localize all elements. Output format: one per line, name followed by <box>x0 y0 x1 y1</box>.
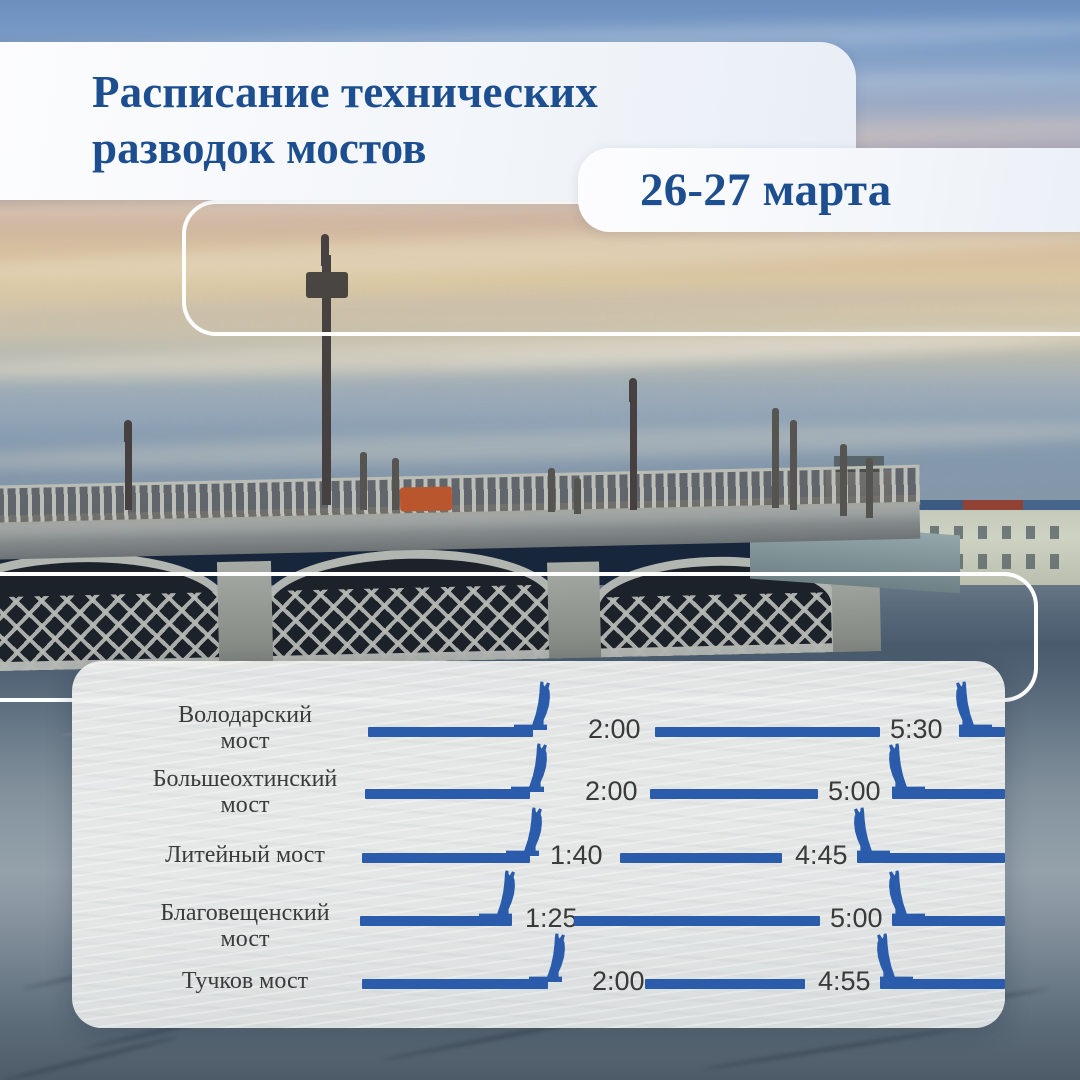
close-time: 5:30 <box>890 714 943 745</box>
close-bar-tail <box>892 916 1005 926</box>
poster: Расписание технических разводок мостов 2… <box>0 0 1080 1080</box>
open-time: 2:00 <box>592 966 645 997</box>
schedule-row: Тучков мост 2:004:55 <box>72 949 1005 1011</box>
close-time: 4:45 <box>795 840 848 871</box>
open-bar <box>365 789 530 799</box>
close-time: 5:00 <box>830 903 883 934</box>
schedule-row: Литейный мост 1:404:45 <box>72 823 1005 885</box>
date-range: 26-27 марта <box>640 163 891 217</box>
close-time: 4:55 <box>818 966 871 997</box>
close-bar-tail <box>880 979 1005 989</box>
close-bar-tail <box>959 727 1005 737</box>
close-bar <box>620 853 782 863</box>
bridge-name-label: Большеохтинский мост <box>80 766 410 819</box>
bridge-open-icon <box>510 743 556 799</box>
open-time: 2:00 <box>588 714 641 745</box>
bridge-name-label: Тучков мост <box>80 968 410 994</box>
close-bar-tail <box>892 789 1005 799</box>
close-bar <box>650 789 818 799</box>
bridge-name-label: Благовещенский мост <box>80 900 410 953</box>
open-time: 1:25 <box>525 903 578 934</box>
schedule-card: Володарский мост 2:005:30 Большеохтински… <box>72 661 1005 1028</box>
page-title: Расписание технических разводок мостов <box>92 65 598 177</box>
bridge-name-label: Володарский мост <box>80 702 410 755</box>
close-bar-tail <box>857 853 1005 863</box>
date-banner: 26-27 марта <box>578 148 1080 232</box>
schedule-rows: Володарский мост 2:005:30 Большеохтински… <box>72 661 1005 1028</box>
close-time: 5:00 <box>828 776 881 807</box>
bridge-open-icon <box>478 870 524 926</box>
bridge-open-icon <box>505 807 551 863</box>
open-time: 1:40 <box>550 840 603 871</box>
open-time: 2:00 <box>585 776 638 807</box>
bridge-open-icon <box>528 933 574 989</box>
close-bar <box>645 979 805 989</box>
close-bar <box>655 727 880 737</box>
open-bar <box>362 979 548 989</box>
close-bar <box>574 916 820 926</box>
bridge-open-icon <box>513 681 559 737</box>
bridge-name-label: Литейный мост <box>80 842 410 868</box>
open-bar <box>368 727 533 737</box>
